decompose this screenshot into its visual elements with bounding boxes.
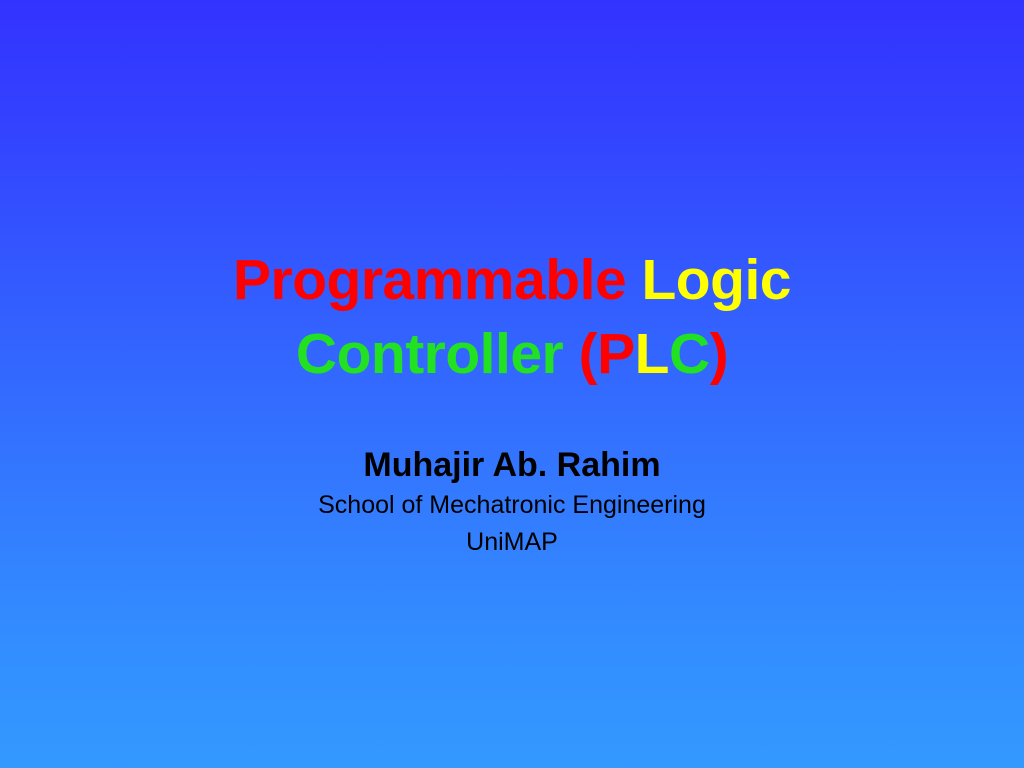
title-letter-c: C — [669, 322, 710, 386]
presentation-slide: Programmable Logic Controller (PLC) Muha… — [0, 0, 1024, 768]
slide-subtitle: Muhajir Ab. Rahim School of Mechatronic … — [0, 443, 1024, 560]
title-letter-l: L — [635, 322, 669, 386]
slide-title: Programmable Logic Controller (PLC) — [0, 243, 1024, 391]
title-line-1: Programmable Logic — [0, 243, 1024, 317]
university-name: UniMAP — [0, 524, 1024, 560]
title-letter-p: P — [597, 322, 635, 386]
presenter-name: Muhajir Ab. Rahim — [0, 443, 1024, 487]
title-space-2 — [563, 322, 578, 386]
title-paren-open: ( — [579, 322, 597, 386]
school-name: School of Mechatronic Engineering — [0, 487, 1024, 524]
title-paren-close: ) — [710, 322, 728, 386]
title-line-2: Controller (PLC) — [0, 317, 1024, 391]
title-space-1 — [626, 248, 641, 312]
title-word-programmable: Programmable — [233, 248, 626, 312]
title-word-logic: Logic — [641, 248, 791, 312]
title-word-controller: Controller — [296, 322, 563, 386]
